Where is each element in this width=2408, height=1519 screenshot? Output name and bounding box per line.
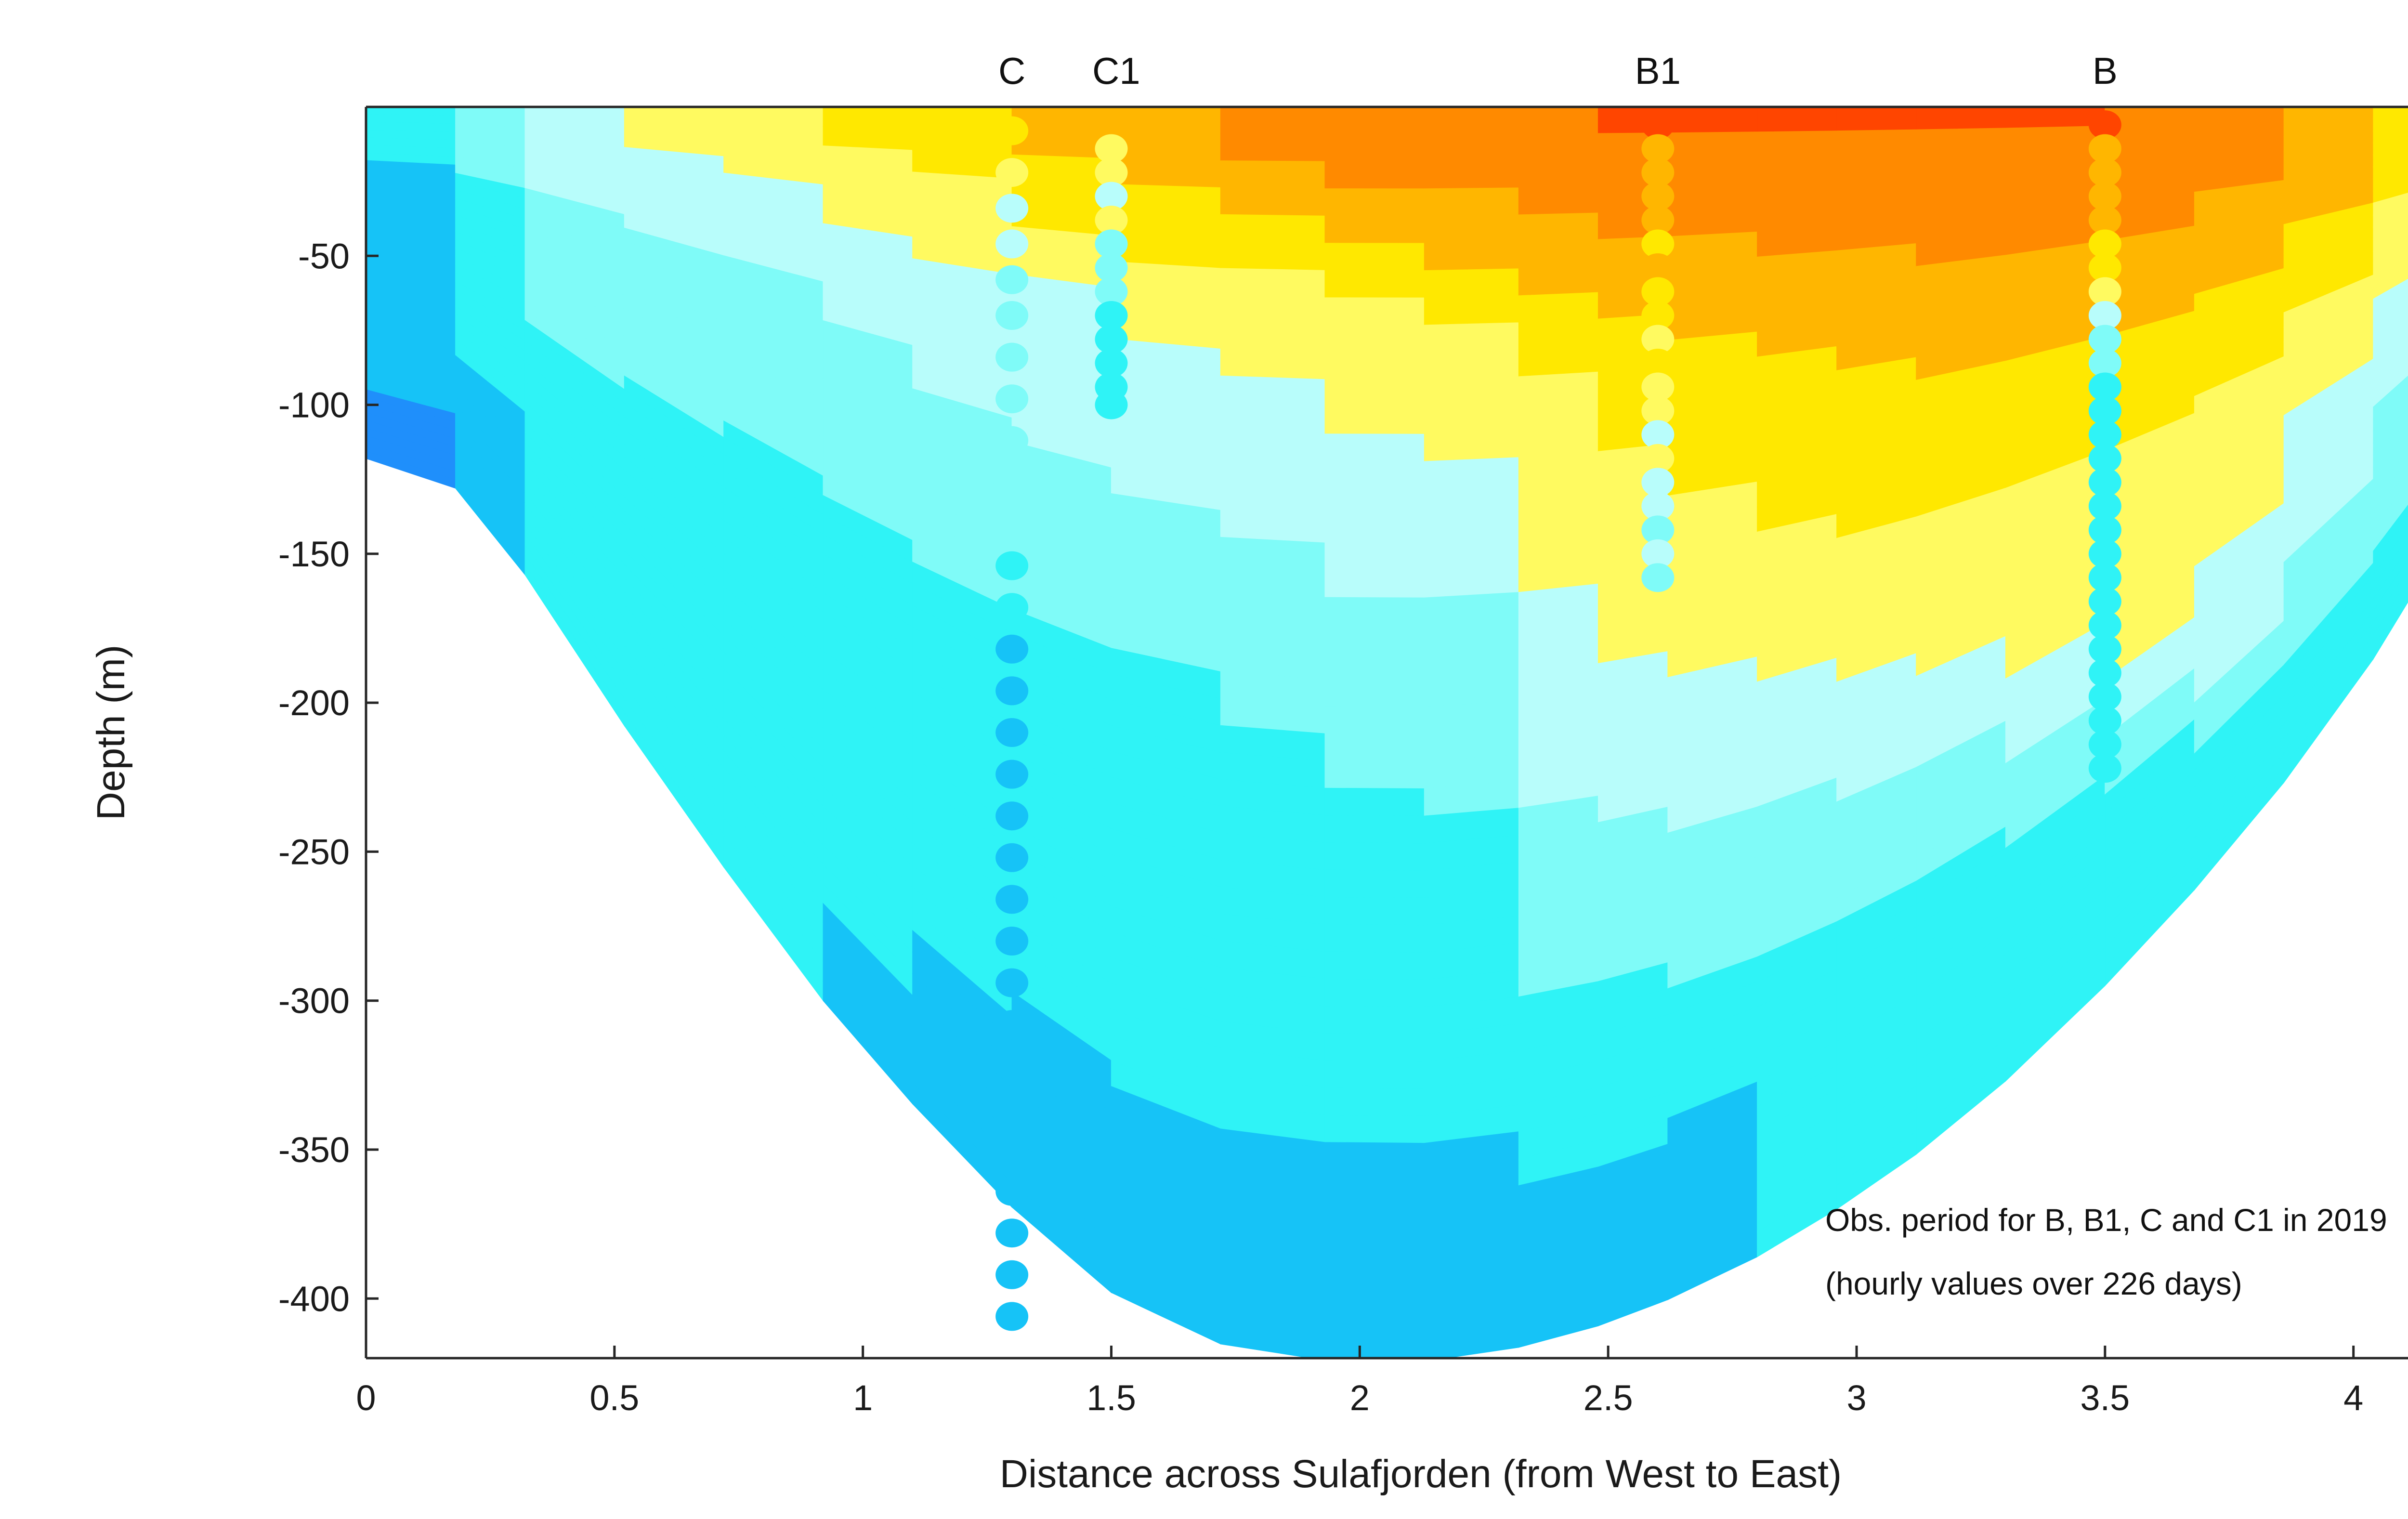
contour-cell (1325, 1034, 1424, 1061)
x-tick-label: 0 (356, 1378, 376, 1418)
contour-cell (1112, 133, 1221, 161)
station-sample-point (995, 468, 1028, 497)
contour-cell (1112, 107, 1221, 134)
station-sample-point (2089, 754, 2121, 783)
contour-cell (1518, 133, 1598, 161)
contour-cell (1325, 1224, 1424, 1253)
contour-cell (1325, 406, 1424, 434)
contour-cell (1325, 597, 1424, 625)
contour-cell (1325, 679, 1424, 707)
contour-cell (1424, 269, 1518, 298)
contour-cell (1837, 107, 1916, 131)
contour-cell (1220, 295, 1325, 325)
station-sample-point (995, 635, 1028, 664)
contour-cell (1220, 188, 1325, 216)
contour-cell (1112, 158, 1221, 187)
contour-cell (823, 107, 913, 129)
contour-cell (366, 107, 456, 115)
contour-cell (1518, 186, 1598, 215)
contour-cell (1220, 241, 1325, 270)
contour-cell (1424, 431, 1518, 461)
contour-cell (1220, 107, 1325, 134)
contour-cell (1325, 1197, 1424, 1225)
contour-cell (1220, 457, 1325, 488)
contour-cell (1424, 458, 1518, 489)
contour-cell (1112, 184, 1221, 215)
contour-cell (2373, 107, 2408, 119)
contour-cell (1668, 107, 1757, 133)
contour-cell (1518, 319, 1598, 350)
contour-cell (1325, 543, 1424, 570)
contour-cell (1837, 153, 1916, 179)
annotation-line-1: Obs. period for B, B1, C and C1 in 2019 (1825, 1202, 2387, 1238)
x-tick-label: 4 (2343, 1378, 2363, 1418)
cross-section-contour-plot: CC1B1B 00.511.522.533.54-50-100-150-200-… (0, 0, 2408, 1519)
contour-cell (1668, 132, 1757, 159)
contour-cell (1325, 488, 1424, 516)
y-tick-label: -400 (278, 1279, 350, 1319)
station-sample-point (995, 1260, 1028, 1289)
y-tick-label: -300 (278, 981, 350, 1021)
contour-cell (1757, 107, 1837, 132)
contour-cell (1220, 484, 1325, 516)
contour-cell (1325, 1115, 1424, 1143)
contour-cell (1837, 130, 1916, 155)
contour-cell (1325, 161, 1424, 189)
station-sample-point (995, 1093, 1028, 1122)
annotation-line-2: (hourly values over 226 days) (1825, 1266, 2242, 1301)
x-tick-label: 3.5 (2080, 1378, 2130, 1418)
y-axis-label: Depth (m) (89, 645, 133, 821)
contour-cell (1424, 323, 1518, 353)
contour-cell (1424, 538, 1518, 571)
contour-cell (1220, 268, 1325, 298)
contour-cell (1325, 788, 1424, 816)
x-tick-label: 2 (1350, 1378, 1370, 1418)
contour-cell (1220, 161, 1325, 189)
contour-cell (1325, 815, 1424, 843)
station-sample-point (995, 760, 1028, 789)
y-tick-label: -100 (278, 385, 350, 425)
contour-cell (1518, 372, 1598, 404)
contour-cell (1325, 1142, 1424, 1170)
station-sample-point (995, 158, 1028, 187)
contour-cell (1220, 430, 1325, 461)
contour-cell (1424, 161, 1518, 189)
station-sample-point (995, 194, 1028, 223)
x-axis-label: Distance across Sulafjorden (from West t… (1000, 1452, 1842, 1496)
contour-cell (1325, 1006, 1424, 1034)
contour-cell (1325, 924, 1424, 952)
contour-cell (724, 107, 823, 126)
contour-cell (1220, 322, 1325, 352)
contour-cell (1325, 652, 1424, 680)
contour-cell (1916, 128, 2006, 153)
station-sample-point (995, 551, 1028, 580)
x-tick-label: 1.5 (1086, 1378, 1136, 1418)
contour-cell (1424, 296, 1518, 325)
station-sample-point (995, 1010, 1028, 1039)
y-tick-label: -250 (278, 832, 350, 872)
station-sample-point (995, 265, 1028, 294)
station-sample-point (995, 426, 1028, 455)
contour-cell (1325, 325, 1424, 353)
contour-cell (1325, 189, 1424, 216)
contour-cell (1325, 761, 1424, 789)
contour-cell (1325, 298, 1424, 325)
station-sample-point (995, 230, 1028, 259)
contour-cell (1325, 461, 1424, 488)
station-sample-point (995, 301, 1028, 330)
contour-cell (1325, 843, 1424, 871)
y-tick-label: -350 (278, 1130, 350, 1170)
contour-cell (1424, 485, 1518, 516)
station-sample-point (995, 801, 1028, 830)
station-sample-point (995, 1135, 1028, 1164)
contour-cell (1518, 239, 1598, 269)
contour-cell (1916, 107, 2006, 130)
contour-cell (1220, 349, 1325, 380)
contour-cell (1325, 1279, 1424, 1307)
station-sample-point (995, 1218, 1028, 1247)
station-sample-point (995, 593, 1028, 622)
y-tick-label: -50 (298, 236, 350, 276)
contour-cell (1424, 404, 1518, 434)
contour-cell (1325, 897, 1424, 925)
contour-cell (1220, 403, 1325, 434)
contour-cell (1325, 107, 1424, 134)
contour-cell (1424, 215, 1518, 243)
station-sample-point (995, 927, 1028, 956)
contour-cell (1757, 179, 1837, 207)
station-label-c1: C1 (1092, 50, 1140, 92)
station-sample-point (995, 1052, 1028, 1081)
contour-cell (1518, 107, 1598, 134)
station-sample-point (995, 1302, 1028, 1331)
x-tick-label: 3 (1846, 1378, 1866, 1418)
contour-cell (1518, 266, 1598, 296)
contour-cell (1325, 434, 1424, 461)
contour-cell (1325, 352, 1424, 380)
contour-cell (1325, 1251, 1424, 1280)
x-tick-label: 1 (853, 1378, 873, 1418)
contour-cell (2195, 107, 2284, 124)
contour-cell (1325, 1169, 1424, 1197)
figure-canvas: CC1B1B 00.511.522.533.54-50-100-150-200-… (0, 0, 2408, 1519)
contour-cell (1325, 870, 1424, 898)
x-tick-label: 0.5 (589, 1378, 639, 1418)
contour-cell (1325, 1061, 1424, 1088)
contour-cell (1325, 625, 1424, 653)
station-sample-point (1095, 391, 1128, 419)
contour-cell (1325, 270, 1424, 298)
contour-cell (1424, 188, 1518, 216)
contour-cell (1518, 213, 1598, 242)
contour-cell (1518, 292, 1598, 323)
x-tick-label: 2.5 (1584, 1378, 1633, 1418)
contour-cell (1325, 570, 1424, 598)
contour-cell (1220, 376, 1325, 406)
contour-cell (1325, 733, 1424, 761)
station-label-b1: B1 (1635, 50, 1681, 92)
station-sample-point (995, 718, 1028, 747)
station-sample-point (995, 885, 1028, 914)
contour-cell (1424, 511, 1518, 543)
contour-cell (1325, 134, 1424, 162)
contour-cell (1424, 107, 1518, 134)
station-sample-point (1641, 563, 1674, 592)
y-tick-label: -200 (278, 683, 350, 723)
contour-cell (1757, 131, 1837, 157)
station-sample-point (995, 1177, 1028, 1206)
contour-cell (1325, 243, 1424, 271)
contour-cell (1325, 1088, 1424, 1116)
contour-cell (1424, 350, 1518, 380)
contour-cell (1424, 242, 1518, 271)
contour-cell (1668, 157, 1757, 185)
contour-cell (1325, 1306, 1424, 1334)
station-sample-point (995, 510, 1028, 538)
contour-cell (1325, 707, 1424, 734)
contour-cell (1325, 952, 1424, 980)
contour-cell (1668, 207, 1757, 237)
station-sample-point (995, 969, 1028, 997)
contour-cell (1325, 216, 1424, 243)
station-sample-point (995, 343, 1028, 372)
y-tick-label: -150 (278, 534, 350, 574)
contour-cell (1325, 979, 1424, 1007)
station-sample-point (995, 843, 1028, 872)
station-label-b: B (2093, 50, 2118, 92)
contour-cell (1424, 134, 1518, 161)
station-sample-point (995, 384, 1028, 413)
contour-cell (1668, 182, 1757, 211)
contour-cell (1220, 134, 1325, 161)
station-sample-point (995, 676, 1028, 705)
contour-cell (1325, 380, 1424, 407)
contour-cell (1518, 345, 1598, 377)
station-sample-point (995, 116, 1028, 145)
contour-cell (1757, 155, 1837, 182)
contour-cell (1424, 377, 1518, 407)
contour-cell (1325, 516, 1424, 543)
contour-cell (1220, 214, 1325, 243)
contour-cell (1518, 160, 1598, 188)
station-label-c: C (998, 50, 1025, 92)
